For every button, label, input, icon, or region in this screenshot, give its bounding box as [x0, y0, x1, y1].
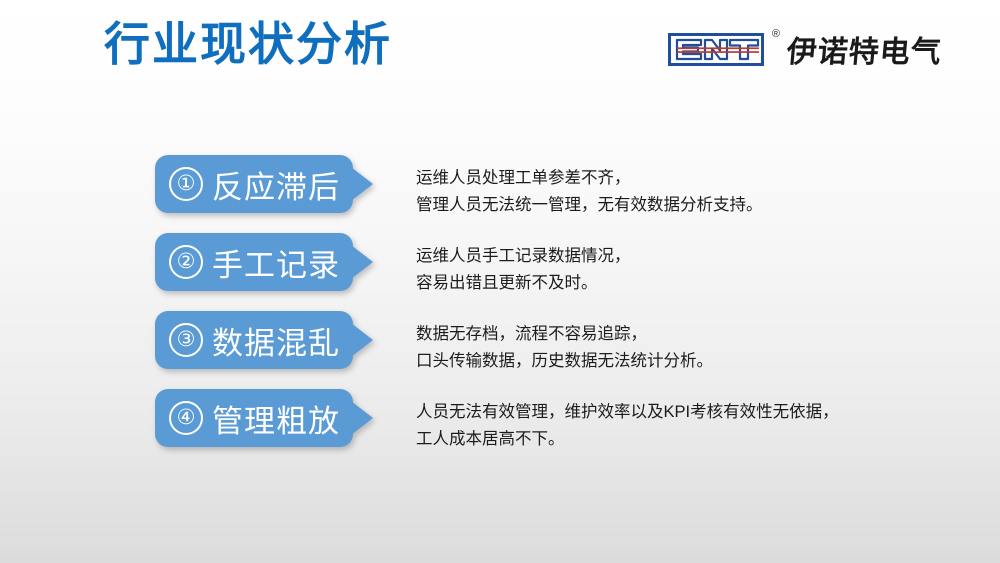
list-item: ① 反应滞后 运维人员处理工单参差不齐， 管理人员无法统一管理，无有效数据分析支…: [0, 155, 1000, 231]
ent-logo-mark: [668, 33, 764, 66]
issue-number-4: ④: [169, 401, 203, 435]
list-item: ② 手工记录 运维人员手工记录数据情况， 容易出错且更新不及时。: [0, 233, 1000, 309]
company-name-cn: 伊诺特电气: [785, 27, 944, 71]
issue-description-4-line2: 工人成本居高不下。: [416, 426, 839, 453]
issue-pill-3[interactable]: ③ 数据混乱: [155, 311, 385, 369]
issue-description-3-line2: 口头传输数据，历史数据无法统计分析。: [416, 348, 713, 375]
issue-description-2-line1: 运维人员手工记录数据情况，: [416, 243, 631, 270]
issue-description-2-line2: 容易出错且更新不及时。: [416, 270, 631, 297]
issue-description-4: 人员无法有效管理，维护效率以及KPI考核有效性无依据， 工人成本居高不下。: [416, 399, 839, 452]
page-title: 行业现状分析: [104, 18, 392, 71]
issue-pill-1[interactable]: ① 反应滞后: [155, 155, 385, 213]
issue-label-3: 数据混乱: [212, 318, 340, 363]
issue-description-1-line2: 管理人员无法统一管理，无有效数据分析支持。: [416, 192, 763, 219]
issue-description-1: 运维人员处理工单参差不齐， 管理人员无法统一管理，无有效数据分析支持。: [416, 165, 763, 218]
issue-description-1-line1: 运维人员处理工单参差不齐，: [416, 165, 763, 192]
list-item: ③ 数据混乱 数据无存档，流程不容易追踪， 口头传输数据，历史数据无法统计分析。: [0, 311, 1000, 387]
issue-list: ① 反应滞后 运维人员处理工单参差不齐， 管理人员无法统一管理，无有效数据分析支…: [0, 155, 1000, 467]
issue-description-2: 运维人员手工记录数据情况， 容易出错且更新不及时。: [416, 243, 631, 296]
list-item: ④ 管理粗放 人员无法有效管理，维护效率以及KPI考核有效性无依据， 工人成本居…: [0, 389, 1000, 465]
issue-pill-4[interactable]: ④ 管理粗放: [155, 389, 385, 447]
issue-number-1: ①: [169, 167, 203, 201]
issue-label-4: 管理粗放: [212, 396, 340, 441]
registered-trademark-icon: ®: [772, 29, 780, 40]
slide-canvas: 行业现状分析 ® 伊诺特电气 ① 反应: [0, 0, 1000, 563]
issue-pill-2[interactable]: ② 手工记录: [155, 233, 385, 291]
issue-description-3: 数据无存档，流程不容易追踪， 口头传输数据，历史数据无法统计分析。: [416, 321, 713, 374]
issue-description-3-line1: 数据无存档，流程不容易追踪，: [416, 321, 713, 348]
issue-number-2: ②: [169, 245, 203, 279]
issue-description-4-line1: 人员无法有效管理，维护效率以及KPI考核有效性无依据，: [416, 399, 839, 426]
issue-number-3: ③: [169, 323, 203, 357]
company-logo: ® 伊诺特电气: [668, 28, 942, 70]
issue-label-2: 手工记录: [212, 240, 340, 285]
ent-logo-icon: [668, 33, 764, 66]
issue-label-1: 反应滞后: [212, 162, 340, 207]
